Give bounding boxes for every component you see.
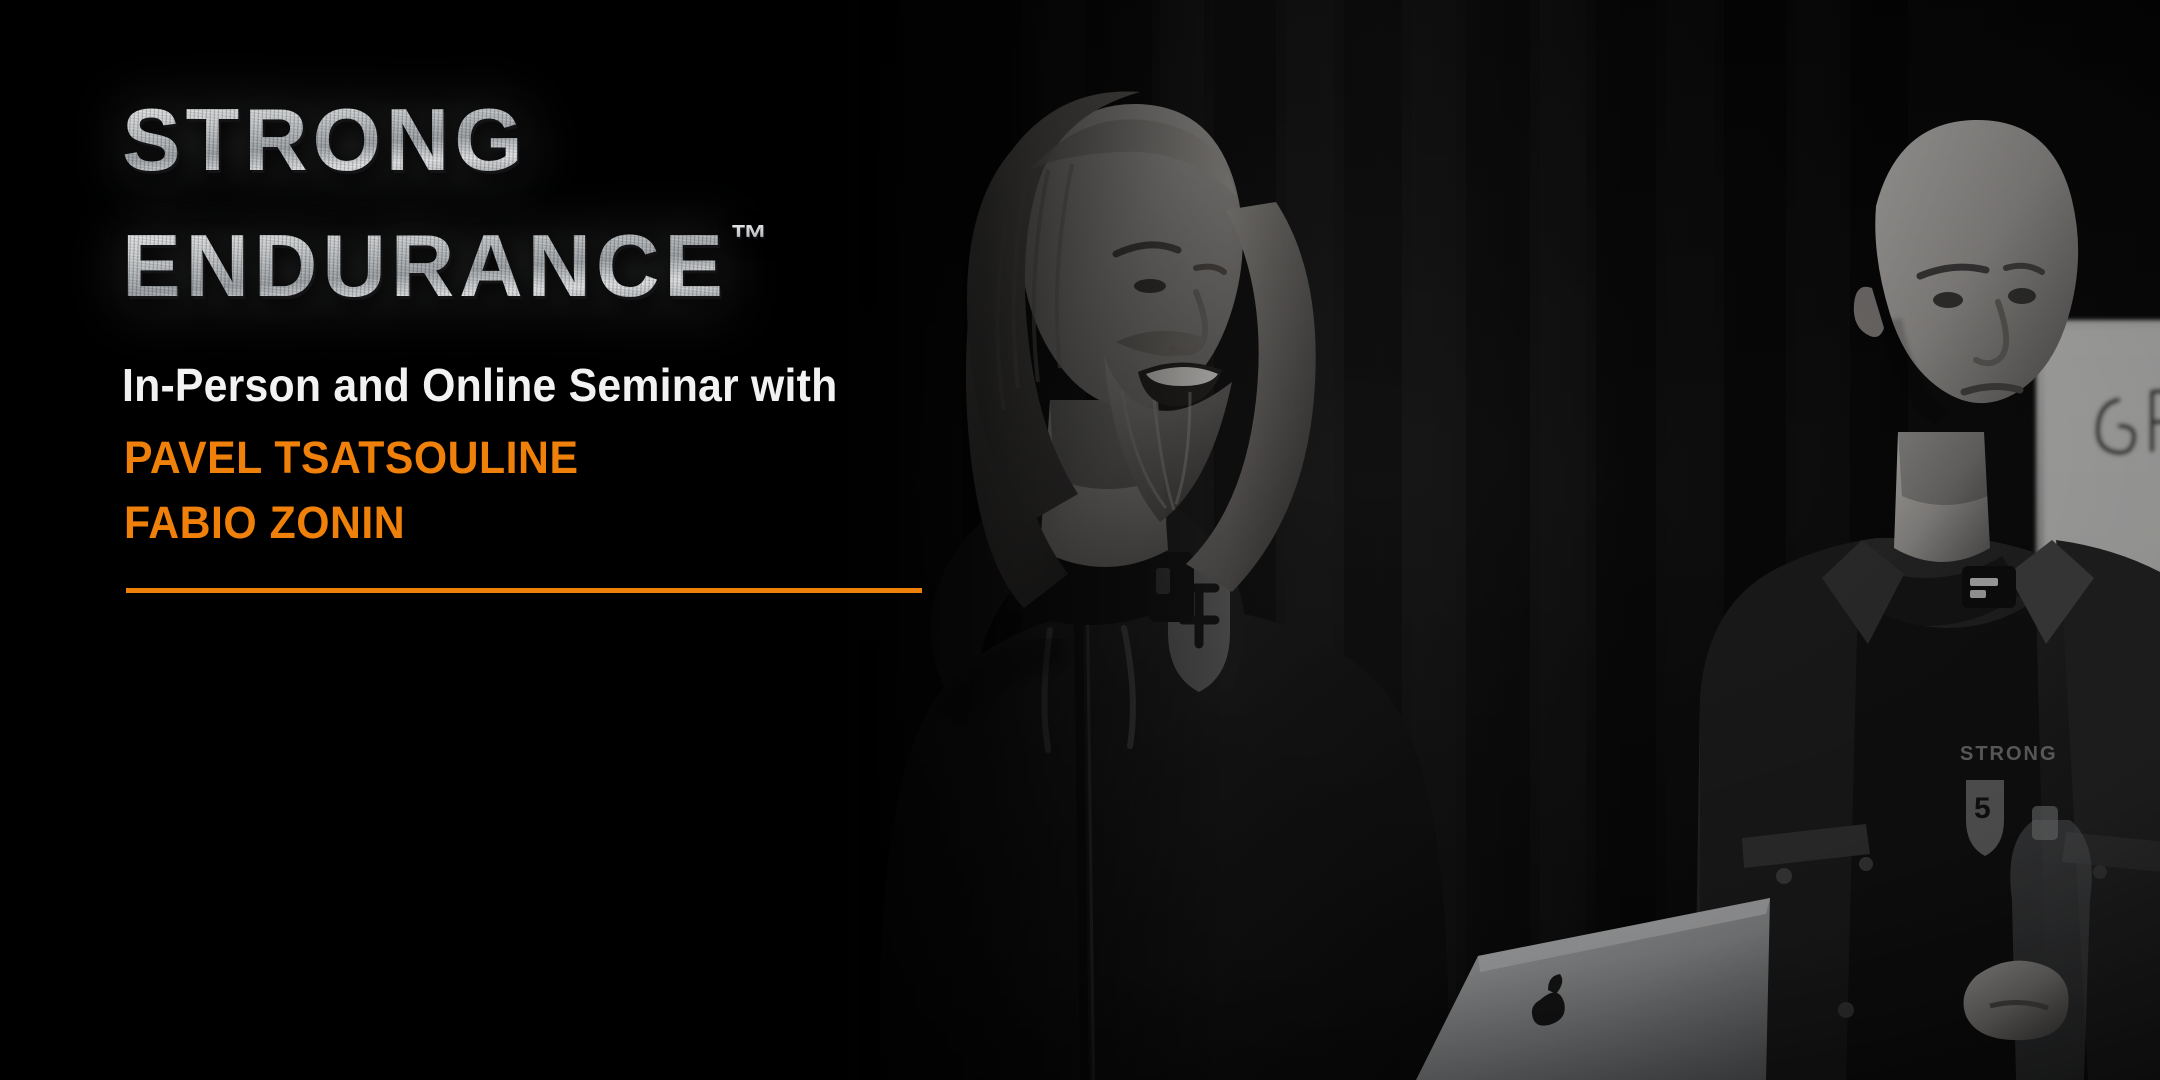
presenter-name-fabio-zonin: FABIO ZONIN xyxy=(124,497,405,549)
presenter-name-pavel-tsatsouline: PAVEL TSATSOULINE xyxy=(124,432,578,484)
banner-text-block: STRONG ENDURANCE™ In-Person and Online S… xyxy=(0,0,1000,1080)
seminar-subtitle: In-Person and Online Seminar with xyxy=(122,358,837,412)
title-line-endurance-group: ENDURANCE™ xyxy=(122,222,769,310)
seminar-promo-banner: STRONG 5 xyxy=(0,0,2160,1080)
title-line-strong: STRONG xyxy=(122,96,528,184)
orange-divider-rule xyxy=(126,588,922,593)
trademark-symbol: ™ xyxy=(730,218,769,261)
title-line-endurance: ENDURANCE xyxy=(122,222,728,310)
